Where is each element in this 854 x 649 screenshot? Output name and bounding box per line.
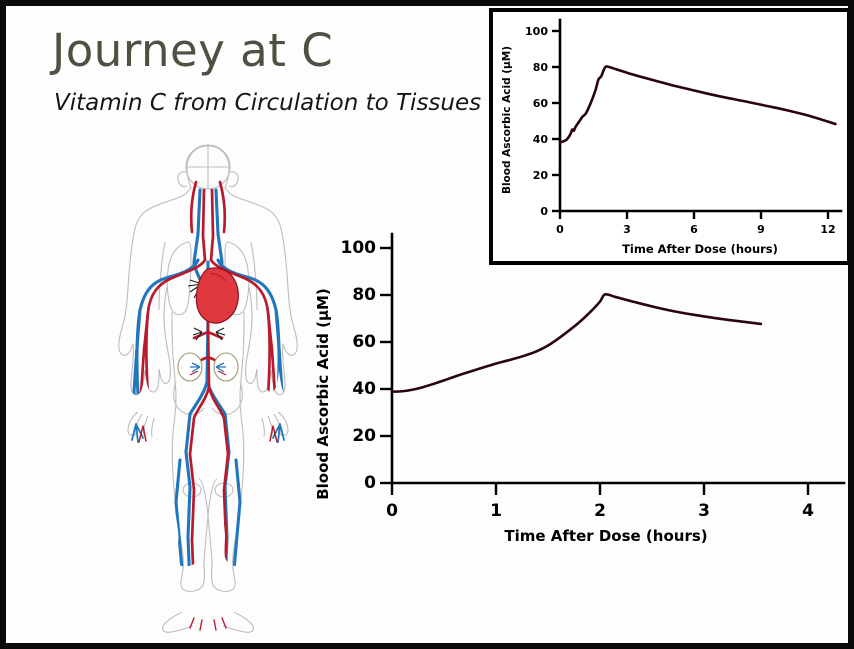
heart [196,268,238,323]
poster-canvas: Journey at C Vitamin C from Circulation … [6,6,848,643]
arm-vessels [132,424,284,630]
inset-ytick-80: 80 [533,61,549,74]
inset-xtick-6: 6 [690,223,698,236]
arteries [141,182,275,616]
main-ytick-marks [380,248,392,483]
inset-chart: Blood Ascorbic Acid (µM) 100 80 60 40 20… [493,12,847,261]
main-curve-highlight [392,294,761,391]
inset-xtick-0: 0 [556,223,564,236]
circulatory-system-illustration [110,142,306,634]
inset-yaxis-label: Blood Ascorbic Acid (µM) [501,46,513,194]
main-ytick-20: 20 [352,426,376,446]
inset-xtick-3: 3 [623,223,631,236]
main-ytick-0: 0 [364,473,376,493]
main-yaxis-label: Blood Ascorbic Acid (µM) [314,288,332,500]
main-ytick-80: 80 [352,285,376,305]
inset-ytick-40: 40 [533,133,549,146]
inset-ytick-20: 20 [533,169,549,182]
inset-data-curve [560,66,835,142]
main-xtick-3: 3 [698,501,710,521]
inset-xaxis-label: Time After Dose (hours) [622,242,778,256]
main-ytick-40: 40 [352,379,376,399]
main-xtick-0: 0 [386,501,398,521]
inset-ytick-100: 100 [525,25,548,38]
inset-chart-panel: Blood Ascorbic Acid (µM) 100 80 60 40 20… [489,8,851,265]
page-title: Journey at C [52,24,333,77]
main-xtick-1: 1 [490,501,502,521]
main-data-curve [392,294,761,391]
main-chart: Blood Ascorbic Acid (µM) 100 80 60 40 20… [306,224,854,546]
main-xtick-2: 2 [594,501,606,521]
main-xtick-marks [392,483,808,495]
inset-xtick-9: 9 [757,223,765,236]
veins [134,190,282,614]
inset-xtick-12: 12 [820,223,835,236]
main-ytick-60: 60 [352,332,376,352]
main-xaxis-label: Time After Dose (hours) [504,527,707,545]
inset-ytick-60: 60 [533,97,549,110]
main-xtick-4: 4 [802,501,814,521]
page-subtitle: Vitamin C from Circulation to Tissues [54,90,481,116]
main-ytick-100: 100 [341,238,377,258]
poster-frame: Journey at C Vitamin C from Circulation … [0,0,854,649]
inset-ytick-0: 0 [540,205,548,218]
main-chart-yaxis-title: Blood Ascorbic Acid (µM) [314,288,332,500]
